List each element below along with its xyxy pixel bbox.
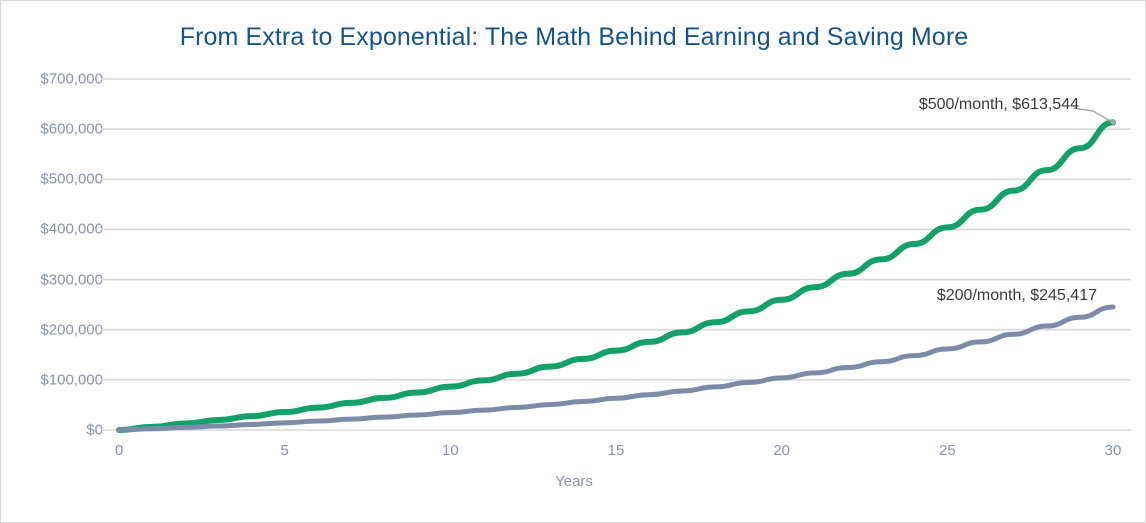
leader-line-endpoint <box>1111 120 1116 125</box>
x-tick-label: 25 <box>939 442 956 459</box>
x-axis-title: Years <box>1 473 1146 490</box>
series-line-500-per-month <box>119 122 1113 430</box>
leader-line <box>1073 108 1113 122</box>
annotation-500-per-month: $500/month, $613,544 <box>919 96 1079 114</box>
x-tick-label: 10 <box>442 442 459 459</box>
chart-container: From Extra to Exponential: The Math Behi… <box>0 0 1146 523</box>
annotation-200-per-month: $200/month, $245,417 <box>937 287 1097 305</box>
x-axis: 051015202530 <box>1 442 1146 466</box>
series-lines <box>119 122 1113 430</box>
x-tick-label: 20 <box>773 442 790 459</box>
x-tick-label: 5 <box>280 442 288 459</box>
x-tick-label: 0 <box>115 442 123 459</box>
gridlines <box>101 79 1131 430</box>
x-tick-label: 30 <box>1105 442 1122 459</box>
x-tick-label: 15 <box>608 442 625 459</box>
